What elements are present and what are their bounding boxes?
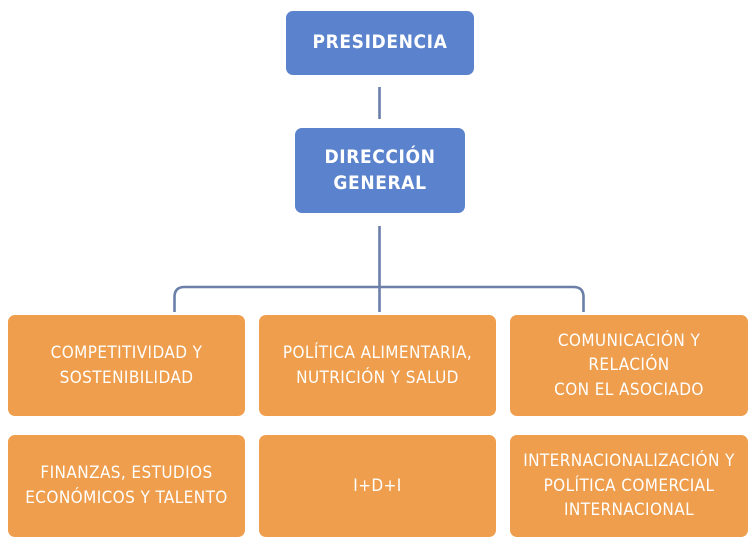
node-internacionalizacion[interactable]: INTERNACIONALIZACIÓN Y POLÍTICA COMERCIA… xyxy=(510,435,748,537)
org-chart: PRESIDENCIA DIRECCIÓN GENERAL COMPETITIV… xyxy=(0,0,756,552)
node-competitividad[interactable]: COMPETITIVIDAD Y SOSTENIBILIDAD xyxy=(8,315,245,416)
node-finanzas[interactable]: FINANZAS, ESTUDIOS ECONÓMICOS Y TALENTO xyxy=(8,435,245,537)
node-finanzas-label: FINANZAS, ESTUDIOS ECONÓMICOS Y TALENTO xyxy=(18,461,235,510)
connector-bus-left xyxy=(175,287,380,312)
node-presidencia[interactable]: PRESIDENCIA xyxy=(286,11,474,75)
node-comunicacion-label: COMUNICACIÓN Y RELACIÓN CON EL ASOCIADO xyxy=(520,329,738,403)
node-direccion-general[interactable]: DIRECCIÓN GENERAL xyxy=(295,128,465,213)
node-competitividad-label: COMPETITIVIDAD Y SOSTENIBILIDAD xyxy=(18,341,235,390)
node-comunicacion[interactable]: COMUNICACIÓN Y RELACIÓN CON EL ASOCIADO xyxy=(510,315,748,416)
node-idi-label: I+D+I xyxy=(269,474,486,499)
node-politica-alimentaria-label: POLÍTICA ALIMENTARIA, NUTRICIÓN Y SALUD xyxy=(269,341,486,390)
node-presidencia-label: PRESIDENCIA xyxy=(296,30,464,56)
node-direccion-general-label: DIRECCIÓN GENERAL xyxy=(305,145,455,196)
node-idi[interactable]: I+D+I xyxy=(259,435,496,537)
node-politica-alimentaria[interactable]: POLÍTICA ALIMENTARIA, NUTRICIÓN Y SALUD xyxy=(259,315,496,416)
connector-bus-right xyxy=(380,287,584,312)
node-internacionalizacion-label: INTERNACIONALIZACIÓN Y POLÍTICA COMERCIA… xyxy=(520,449,738,523)
